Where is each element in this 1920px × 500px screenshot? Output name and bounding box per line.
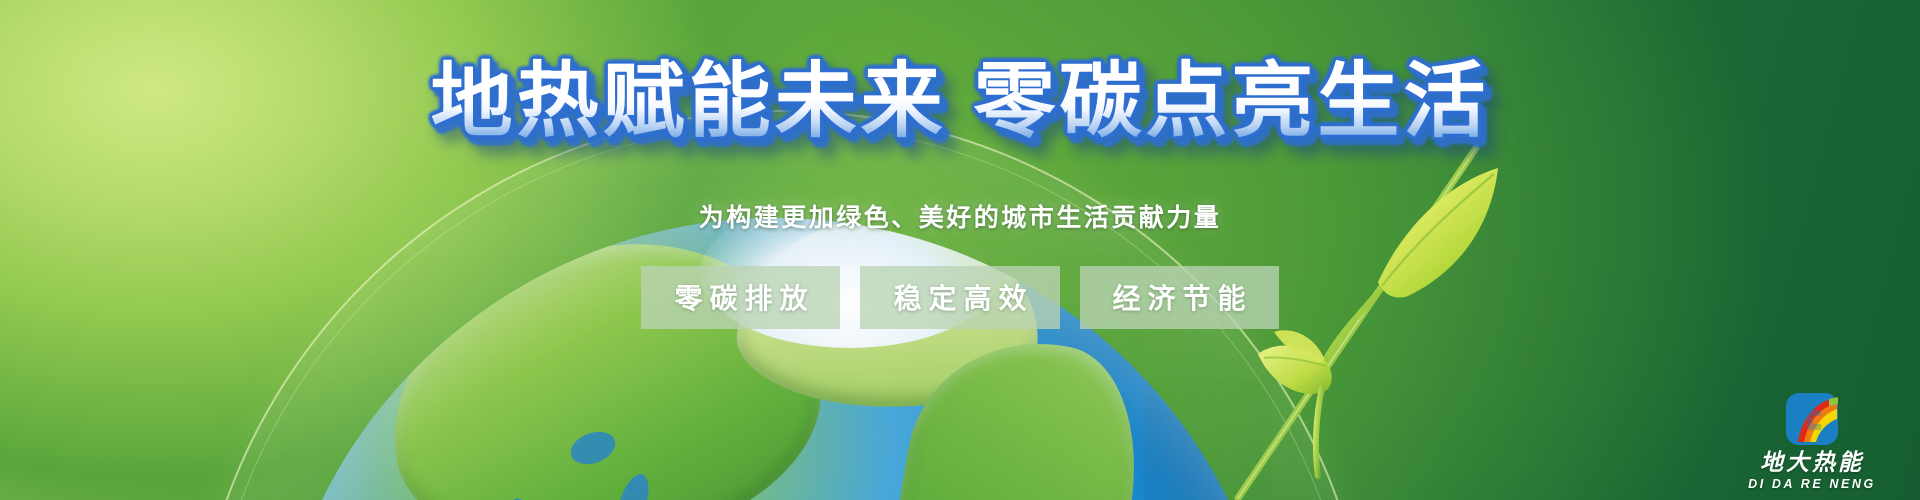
feature-badge-zero-carbon[interactable]: 零碳排放 (641, 266, 840, 329)
feature-badge-list: 零碳排放 稳定高效 经济节能 (0, 266, 1920, 329)
logo-name-cn: 地大热能 (1760, 451, 1864, 474)
logo-name-en: DI DA RE NENG (1748, 478, 1876, 491)
feature-badge-economic-saving[interactable]: 经济节能 (1080, 266, 1279, 329)
hero-banner: 地热赋能未来 零碳点亮生活 为构建更加绿色、美好的城市生活贡献力量 零碳排放 稳… (0, 0, 1920, 500)
feature-badge-stable-efficient[interactable]: 稳定高效 (860, 266, 1059, 329)
didareneng-logo-mark (1785, 392, 1839, 446)
earth-globe (270, 218, 1280, 500)
banner-title: 地热赋能未来 零碳点亮生活 (0, 56, 1920, 148)
banner-subtitle: 为构建更加绿色、美好的城市生活贡献力量 (0, 198, 1920, 234)
brand-logo[interactable]: 地大热能 DI DA RE NENG (1732, 392, 1892, 491)
